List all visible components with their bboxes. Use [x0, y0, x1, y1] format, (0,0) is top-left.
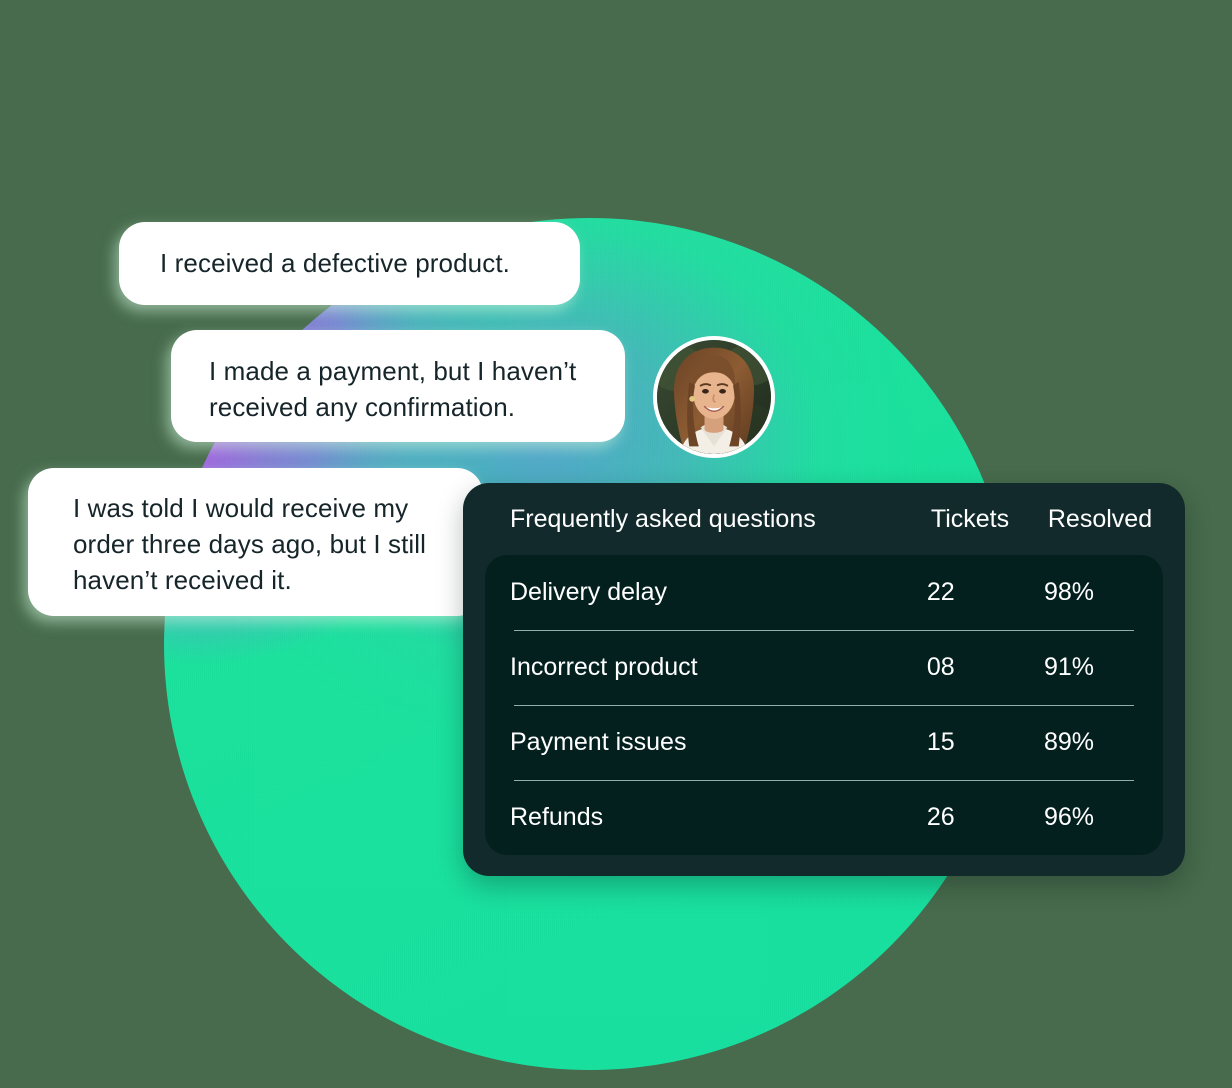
- chat-bubble-2: I made a payment, but I haven’t received…: [171, 330, 625, 442]
- table-row[interactable]: Refunds 26 96%: [510, 780, 1138, 855]
- avatar: [653, 336, 775, 458]
- column-header-tickets: Tickets: [910, 505, 1030, 534]
- chat-bubble-1: I received a defective product.: [119, 222, 580, 305]
- column-header-resolved: Resolved: [1030, 505, 1170, 534]
- cell-question: Refunds: [510, 803, 882, 832]
- column-header-questions: Frequently asked questions: [510, 505, 910, 534]
- cell-resolved: 96%: [1000, 803, 1138, 832]
- chat-bubble-3-text: I was told I would receive my order thre…: [73, 493, 426, 595]
- cell-tickets: 26: [882, 803, 1000, 832]
- table-row[interactable]: Incorrect product 08 91%: [510, 630, 1138, 705]
- cell-tickets: 15: [882, 728, 1000, 757]
- cell-resolved: 89%: [1000, 728, 1138, 757]
- faq-table-body: Delivery delay 22 98% Incorrect product …: [485, 555, 1163, 855]
- faq-stats-card: Frequently asked questions Tickets Resol…: [463, 483, 1185, 876]
- chat-bubble-3: I was told I would receive my order thre…: [28, 468, 483, 616]
- cell-resolved: 98%: [1000, 578, 1138, 607]
- avatar-portrait-image: [657, 340, 771, 454]
- illustration-stage: I received a defective product. I made a…: [0, 0, 1232, 1088]
- chat-bubble-2-text: I made a payment, but I haven’t received…: [209, 356, 576, 422]
- faq-table-header: Frequently asked questions Tickets Resol…: [463, 483, 1185, 555]
- cell-question: Incorrect product: [510, 653, 882, 682]
- cell-resolved: 91%: [1000, 653, 1138, 682]
- chat-bubble-1-text: I received a defective product.: [160, 248, 510, 278]
- table-row[interactable]: Payment issues 15 89%: [510, 705, 1138, 780]
- cell-question: Delivery delay: [510, 578, 882, 607]
- cell-tickets: 08: [882, 653, 1000, 682]
- cell-question: Payment issues: [510, 728, 882, 757]
- table-row[interactable]: Delivery delay 22 98%: [510, 555, 1138, 630]
- cell-tickets: 22: [882, 578, 1000, 607]
